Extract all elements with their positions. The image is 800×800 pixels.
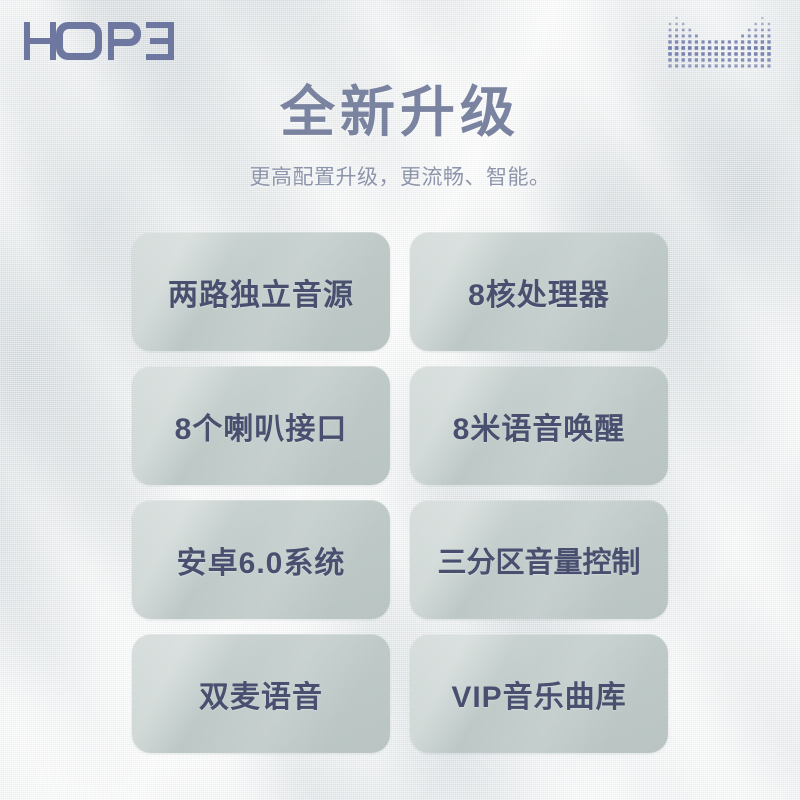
page-subtitle: 更高配置升级，更流畅、智能。: [0, 163, 800, 192]
feature-card-dual-independent-audio-source[interactable]: 两路独立音源: [132, 232, 390, 351]
feature-card-android-6-system[interactable]: 安卓6.0系统: [132, 500, 390, 619]
feature-label: 双麦语音: [199, 672, 323, 716]
feature-label: VIP音乐曲库: [451, 672, 626, 716]
feature-label: 8个喇叭接口: [175, 404, 348, 448]
feature-label: 两路独立音源: [168, 270, 354, 314]
promo-poster: HOPE: [0, 0, 800, 800]
hope-logo: HOPE: [24, 20, 174, 62]
dot-matrix-svg: [666, 14, 778, 76]
page-title: 全新升级: [0, 80, 800, 145]
feature-label: 三分区音量控制: [437, 539, 640, 581]
feature-card-vip-music-library[interactable]: VIP音乐曲库: [410, 634, 668, 753]
feature-card-eight-speaker-ports[interactable]: 8个喇叭接口: [132, 366, 390, 485]
feature-label: 8核处理器: [468, 270, 610, 314]
feature-card-dual-microphone-voice[interactable]: 双麦语音: [132, 634, 390, 753]
feature-label: 安卓6.0系统: [177, 538, 346, 582]
dot-matrix-waveform-icon: [666, 14, 778, 76]
hope-logo-glyphs: [24, 20, 174, 62]
feature-grid: 两路独立音源 8核处理器 8个喇叭接口 8米语音唤醒 安卓6.0系统 三分区音量…: [132, 232, 668, 753]
feature-card-eight-meter-voice-wakeup[interactable]: 8米语音唤醒: [410, 366, 668, 485]
poster-content: HOPE: [0, 0, 800, 800]
feature-card-three-zone-volume-control[interactable]: 三分区音量控制: [410, 500, 668, 619]
headline-block: 全新升级 更高配置升级，更流畅、智能。: [0, 80, 800, 192]
feature-label: 8米语音唤醒: [453, 404, 626, 448]
feature-card-octa-core-processor[interactable]: 8核处理器: [410, 232, 668, 351]
